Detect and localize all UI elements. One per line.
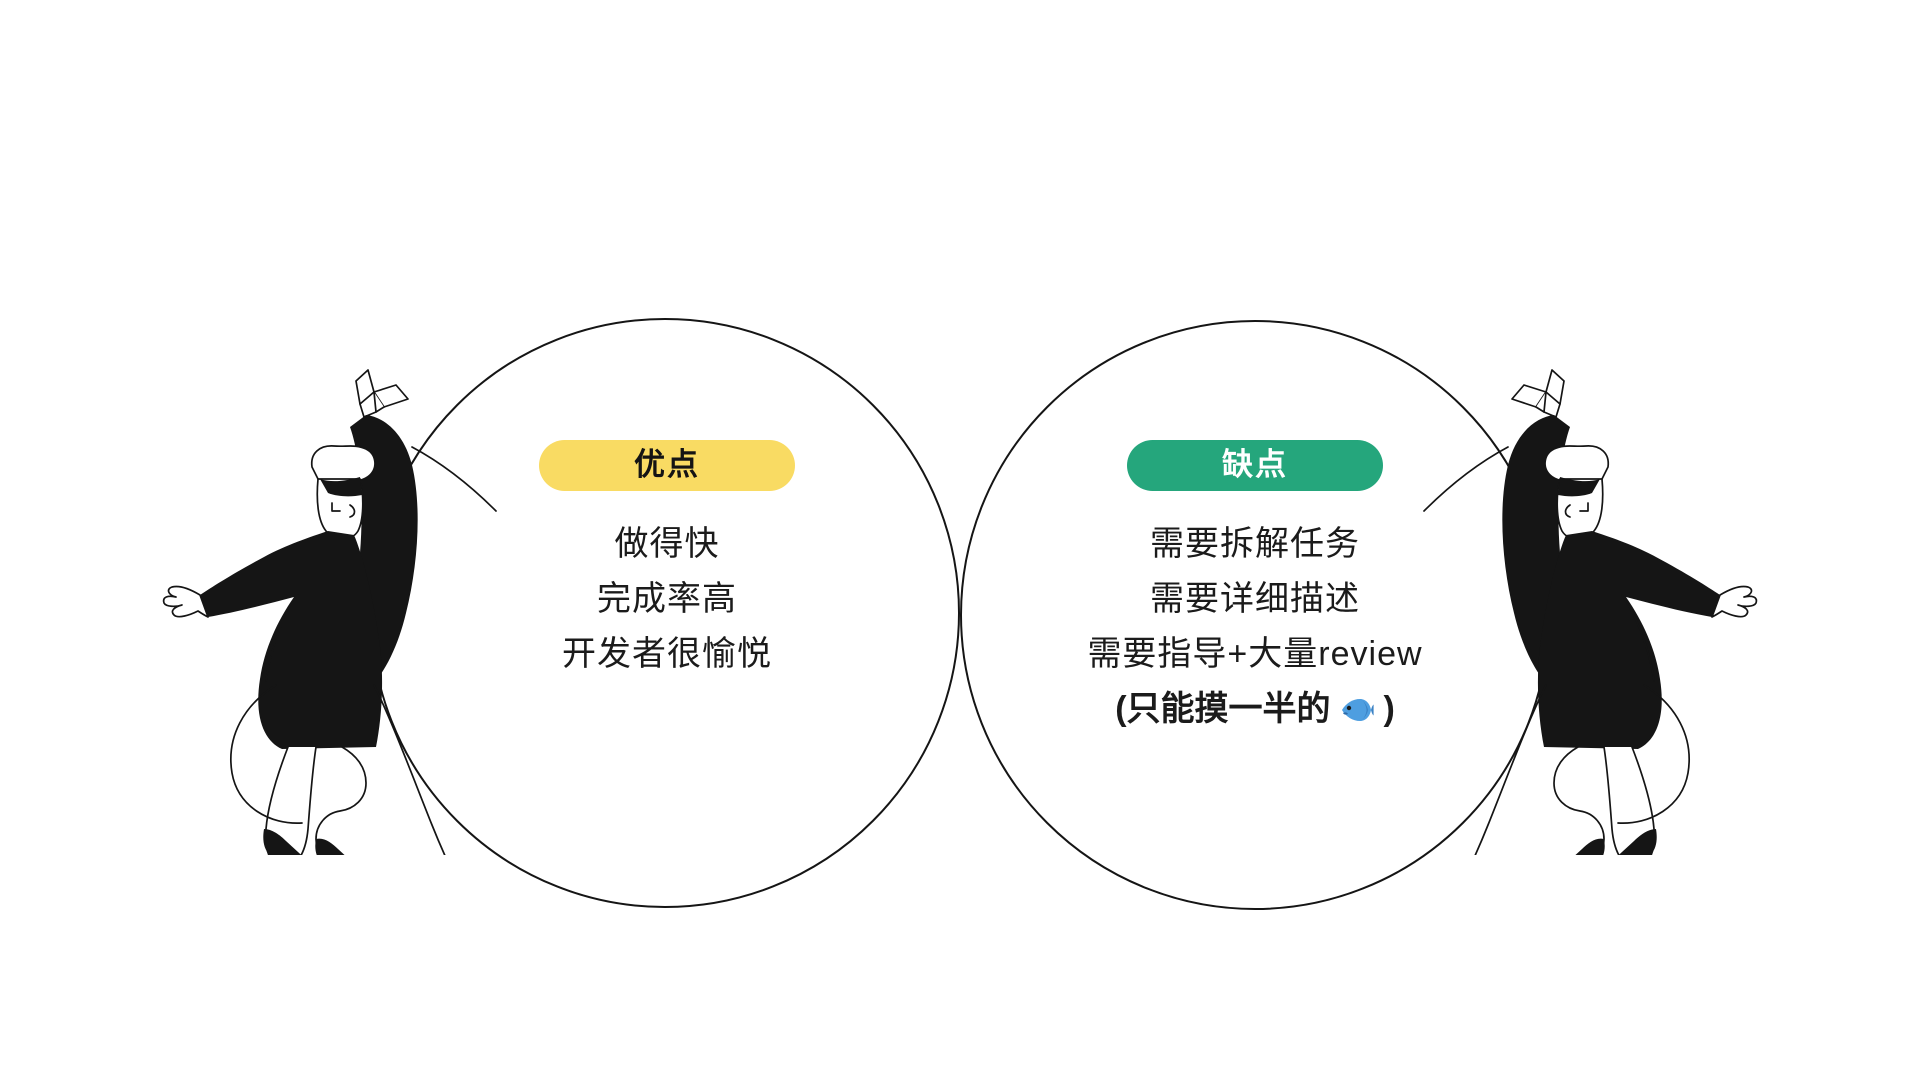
list-item: 需要详细描述 <box>1025 572 1485 627</box>
list-item: 需要指导+大量review <box>1025 627 1485 682</box>
badge-pros: 优点 <box>539 440 795 491</box>
fish-icon <box>1340 685 1374 711</box>
paren-text-after: ) <box>1383 690 1394 728</box>
list-item-parenthetical: (只能摸一半的 ) <box>1025 682 1485 737</box>
list-item: 完成率高 <box>437 572 897 627</box>
paren-text-before: (只能摸一半的 <box>1115 690 1330 728</box>
venn-content-pros: 优点 做得快 完成率高 开发者很愉悦 <box>437 440 897 682</box>
slide-canvas: 优点 做得快 完成率高 开发者很愉悦 缺点 需要拆解任务 需要详细描述 需要指导… <box>0 0 1920 1080</box>
venn-list-pros: 做得快 完成率高 开发者很愉悦 <box>437 517 897 682</box>
list-item: 开发者很愉悦 <box>437 627 897 682</box>
venn-list-cons: 需要拆解任务 需要详细描述 需要指导+大量review (只能摸一半的 ) <box>1025 517 1485 737</box>
list-item: 需要拆解任务 <box>1025 517 1485 572</box>
badge-cons: 缺点 <box>1127 440 1383 491</box>
list-item: 做得快 <box>437 517 897 572</box>
venn-content-cons: 缺点 需要拆解任务 需要详细描述 需要指导+大量review (只能摸一半的 ) <box>1025 440 1485 737</box>
